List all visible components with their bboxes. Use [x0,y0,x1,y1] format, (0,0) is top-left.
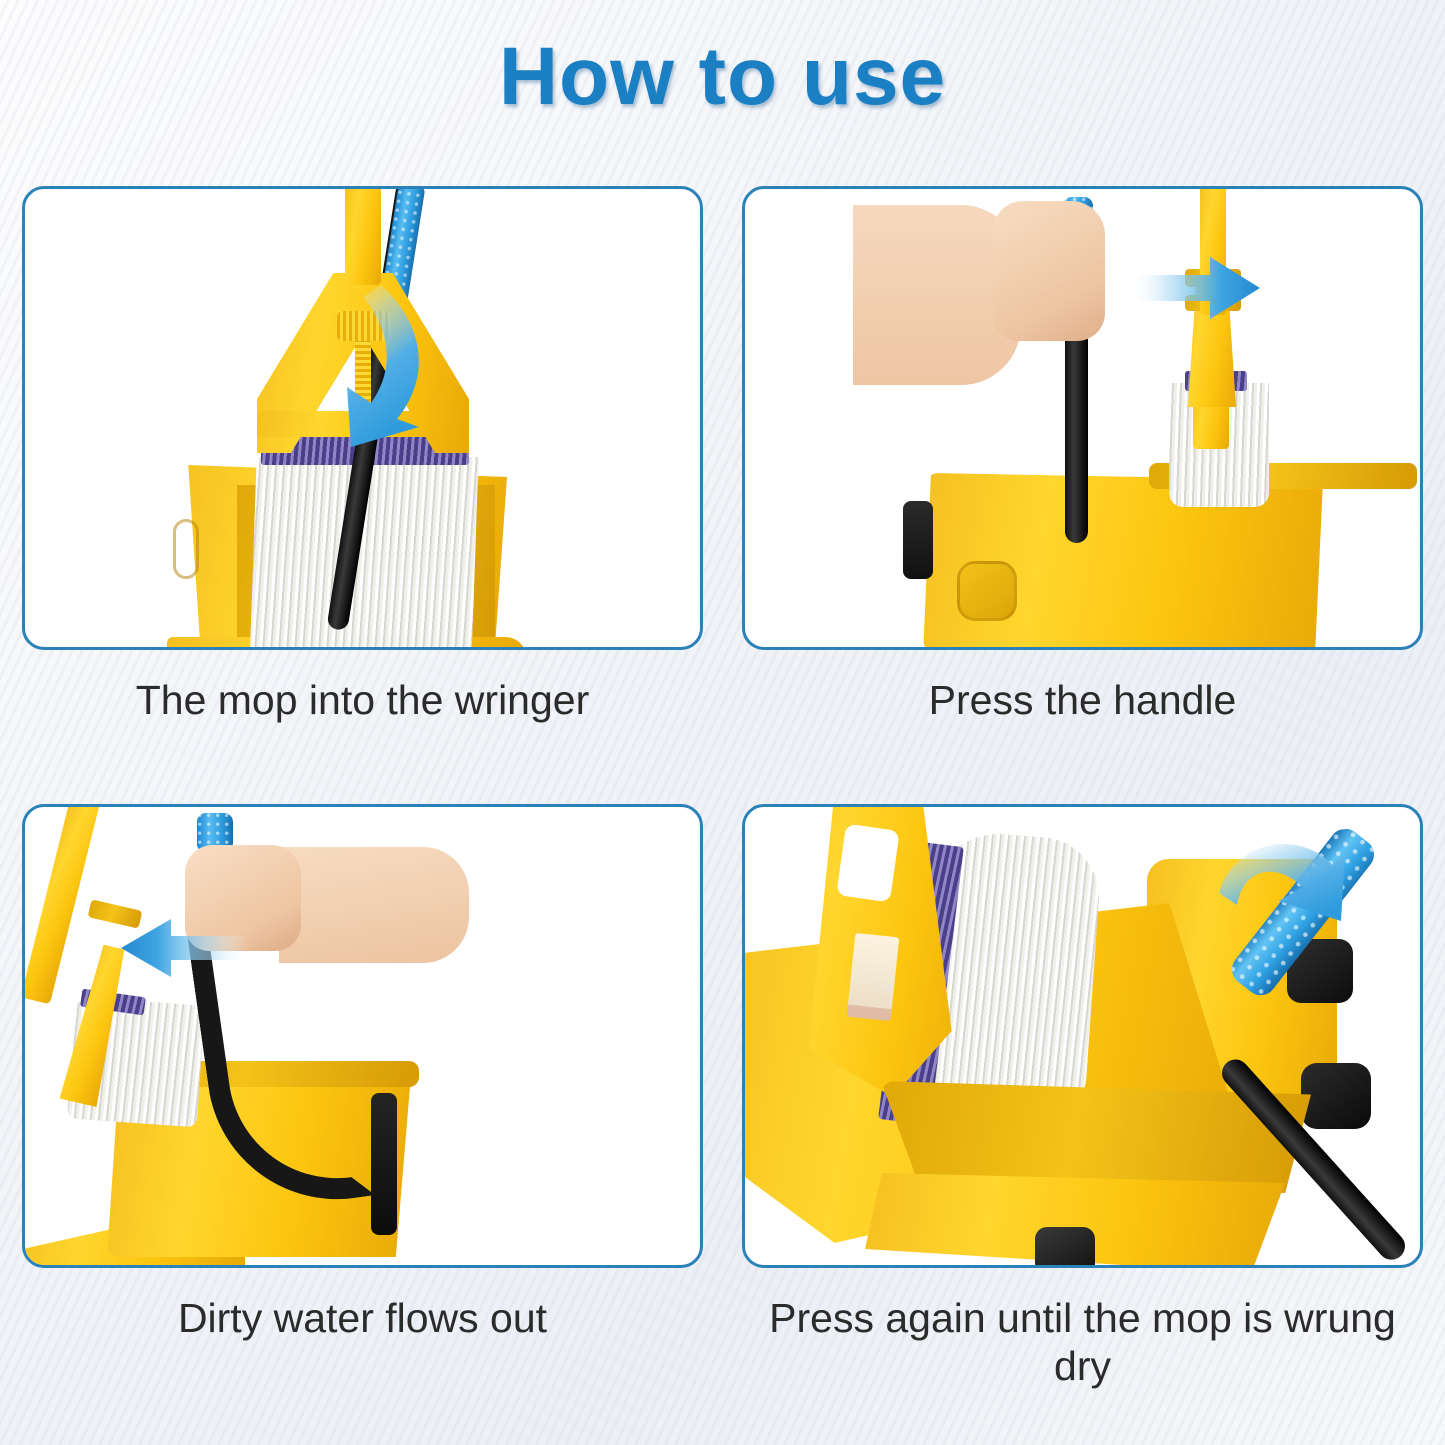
step-2-caption: Press the handle [742,676,1423,724]
step-1-caption: The mop into the wringer [22,676,703,724]
hand-gripping-handle [993,201,1105,341]
bucket-handle-mount [371,1093,397,1235]
step-card-3: Dirty water flows out [22,804,703,1422]
step-4-photo [742,804,1423,1268]
forearm [279,847,469,963]
straight-arrow-right-icon [1130,255,1260,321]
drain-plug [957,561,1017,621]
step-card-4: Press again until the mop is wrung dry [742,804,1423,1422]
step-1-photo [22,186,703,650]
bucket-side-handle [173,519,199,579]
bucket-castor [1035,1227,1095,1268]
step-card-2: Press the handle [742,186,1423,804]
bucket-wheel-lower [1301,1063,1371,1129]
page-title: How to use [0,36,1445,118]
step-3-photo [22,804,703,1268]
product-label-tag [847,933,900,1021]
mop-pole [1065,313,1088,543]
curved-arrow-down-right-icon [1217,835,1349,963]
wringer-press-stem [22,804,101,1004]
step-card-1: The mop into the wringer [22,186,703,804]
steps-grid: The mop into the wringer [22,186,1423,1422]
bucket-wheel [903,501,933,579]
step-3-caption: Dirty water flows out [22,1294,703,1342]
press-plate-cutout [836,824,899,903]
step-4-caption: Press again until the mop is wrung dry [742,1294,1423,1391]
mop-clamp-stem [345,186,381,285]
curved-arrow-down-right-icon [311,281,437,449]
step-2-photo [742,186,1423,650]
straight-arrow-left-icon [121,917,251,979]
